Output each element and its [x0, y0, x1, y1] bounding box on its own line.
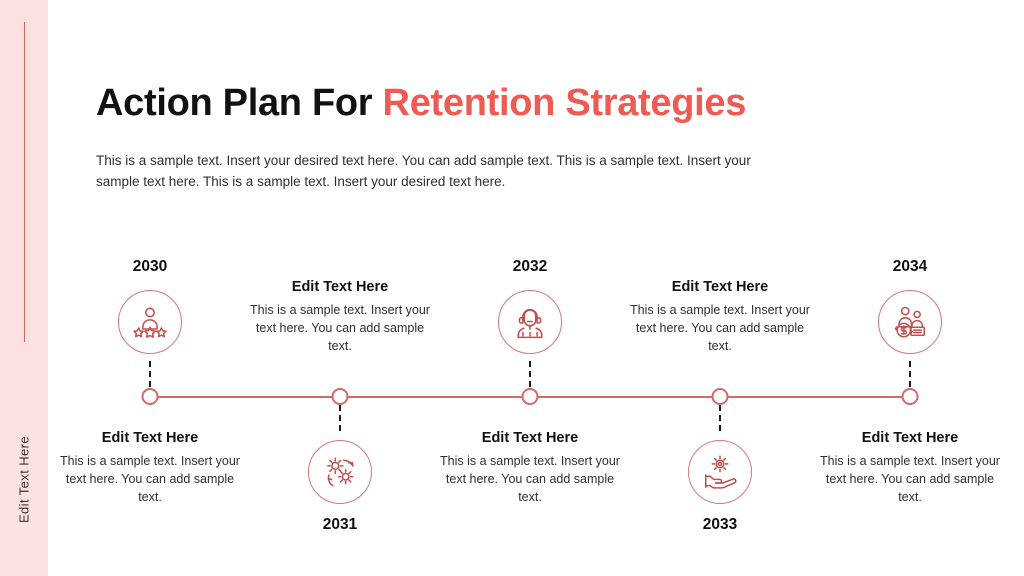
- milestone-icon-circle-2033[interactable]: [688, 440, 752, 504]
- milestone-heading-2033: Edit Text Here: [625, 279, 815, 295]
- milestone-year-2031: 2031: [323, 516, 357, 534]
- milestone-heading-2031: Edit Text Here: [245, 279, 435, 295]
- timeline-connector-2033: [719, 405, 721, 431]
- timeline-node-2030[interactable]: [142, 388, 159, 405]
- milestone-body-2031: This is a sample text. Insert your text …: [245, 301, 435, 355]
- timeline-connector-2034: [909, 361, 911, 387]
- milestone-year-2033: 2033: [703, 516, 737, 534]
- timeline-node-2034[interactable]: [902, 388, 919, 405]
- milestone-body-2030: This is a sample text. Insert your text …: [55, 452, 245, 506]
- timeline-node-2032[interactable]: [522, 388, 539, 405]
- milestone-text-block-2032: Edit Text HereThis is a sample text. Ins…: [435, 430, 625, 506]
- milestone-text-block-2031: Edit Text HereThis is a sample text. Ins…: [245, 279, 435, 355]
- milestone-body-2034: This is a sample text. Insert your text …: [815, 452, 1005, 506]
- gears-icon: [321, 453, 359, 491]
- milestone-icon-circle-2032[interactable]: [498, 290, 562, 354]
- timeline-node-2031[interactable]: [332, 388, 349, 405]
- milestone-heading-2032: Edit Text Here: [435, 430, 625, 446]
- money-meeting-icon: [891, 303, 929, 341]
- timeline-connector-2031: [339, 405, 341, 431]
- milestone-body-2032: This is a sample text. Insert your text …: [435, 452, 625, 506]
- milestone-icon-circle-2031[interactable]: [308, 440, 372, 504]
- milestone-text-block-2034: Edit Text HereThis is a sample text. Ins…: [815, 430, 1005, 506]
- timeline-node-2033[interactable]: [712, 388, 729, 405]
- timeline-connector-2032: [529, 361, 531, 387]
- timeline-connector-2030: [149, 361, 151, 387]
- hand-gear-icon: [701, 453, 739, 491]
- person-stars-icon: [131, 303, 169, 341]
- milestone-heading-2030: Edit Text Here: [55, 430, 245, 446]
- milestone-icon-circle-2030[interactable]: [118, 290, 182, 354]
- milestone-heading-2034: Edit Text Here: [815, 430, 1005, 446]
- milestone-year-2032: 2032: [513, 258, 547, 276]
- milestone-year-2034: 2034: [893, 258, 927, 276]
- milestone-year-2030: 2030: [133, 258, 167, 276]
- milestone-body-2033: This is a sample text. Insert your text …: [625, 301, 815, 355]
- support-agent-icon: [511, 303, 549, 341]
- milestone-text-block-2033: Edit Text HereThis is a sample text. Ins…: [625, 279, 815, 355]
- timeline: 20302031203220332034Edit Text HereThis i…: [0, 0, 1024, 576]
- milestone-icon-circle-2034[interactable]: [878, 290, 942, 354]
- milestone-text-block-2030: Edit Text HereThis is a sample text. Ins…: [55, 430, 245, 506]
